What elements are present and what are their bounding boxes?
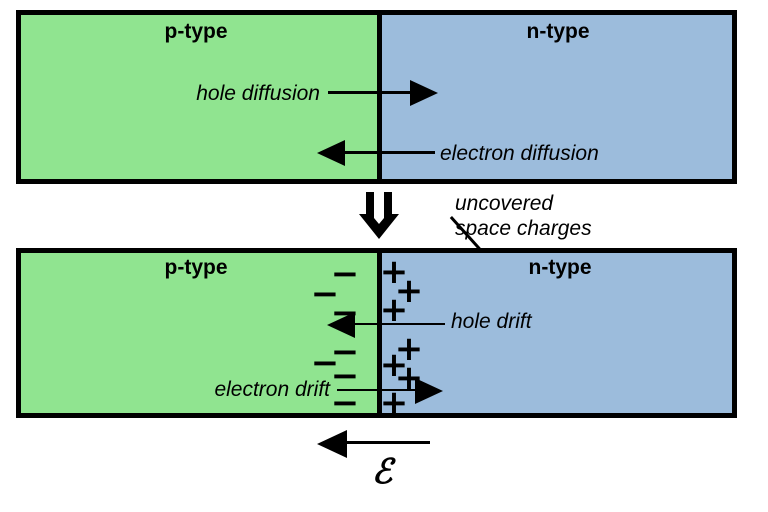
top-p-type-label: p-type [165,20,228,44]
bottom-panel [16,248,737,418]
hole-diffusion-arrowhead [410,80,438,106]
electron-diffusion-arrowhead [317,140,345,166]
top-n-type-label: n-type [527,20,590,44]
electron-drift-label: electron drift [214,378,330,402]
hole-drift-label: hole drift [451,310,532,334]
bottom-n-type-label: n-type [529,256,592,280]
double-down-arrow-icon [358,192,400,245]
bottom-p-type-label: p-type [165,256,228,280]
efield-symbol: ℰ [372,452,393,492]
uncovered-annotation-line1: uncovered [455,192,553,216]
top-panel [16,10,737,184]
uncovered-annotation-line2: space charges [455,217,592,241]
top-junction-line [377,15,382,179]
pn-junction-diagram: p-type n-type hole diffusion electron di… [0,0,768,512]
electron-drift-leader [337,389,423,391]
hole-diffusion-label: hole diffusion [196,82,320,106]
efield-arrowhead [317,430,347,458]
hole-drift-leader [355,323,445,325]
positive-charge-symbol: + [380,293,409,327]
positive-charge-symbol: + [380,386,409,420]
hole-drift-arrowhead [327,312,355,338]
electron-diffusion-leader [345,151,435,154]
electron-diffusion-label: electron diffusion [440,142,599,166]
electron-drift-arrowhead [415,378,443,404]
efield-arrow-shaft [345,441,430,444]
negative-charge-symbol: − [331,386,360,420]
hole-diffusion-leader [328,91,412,94]
